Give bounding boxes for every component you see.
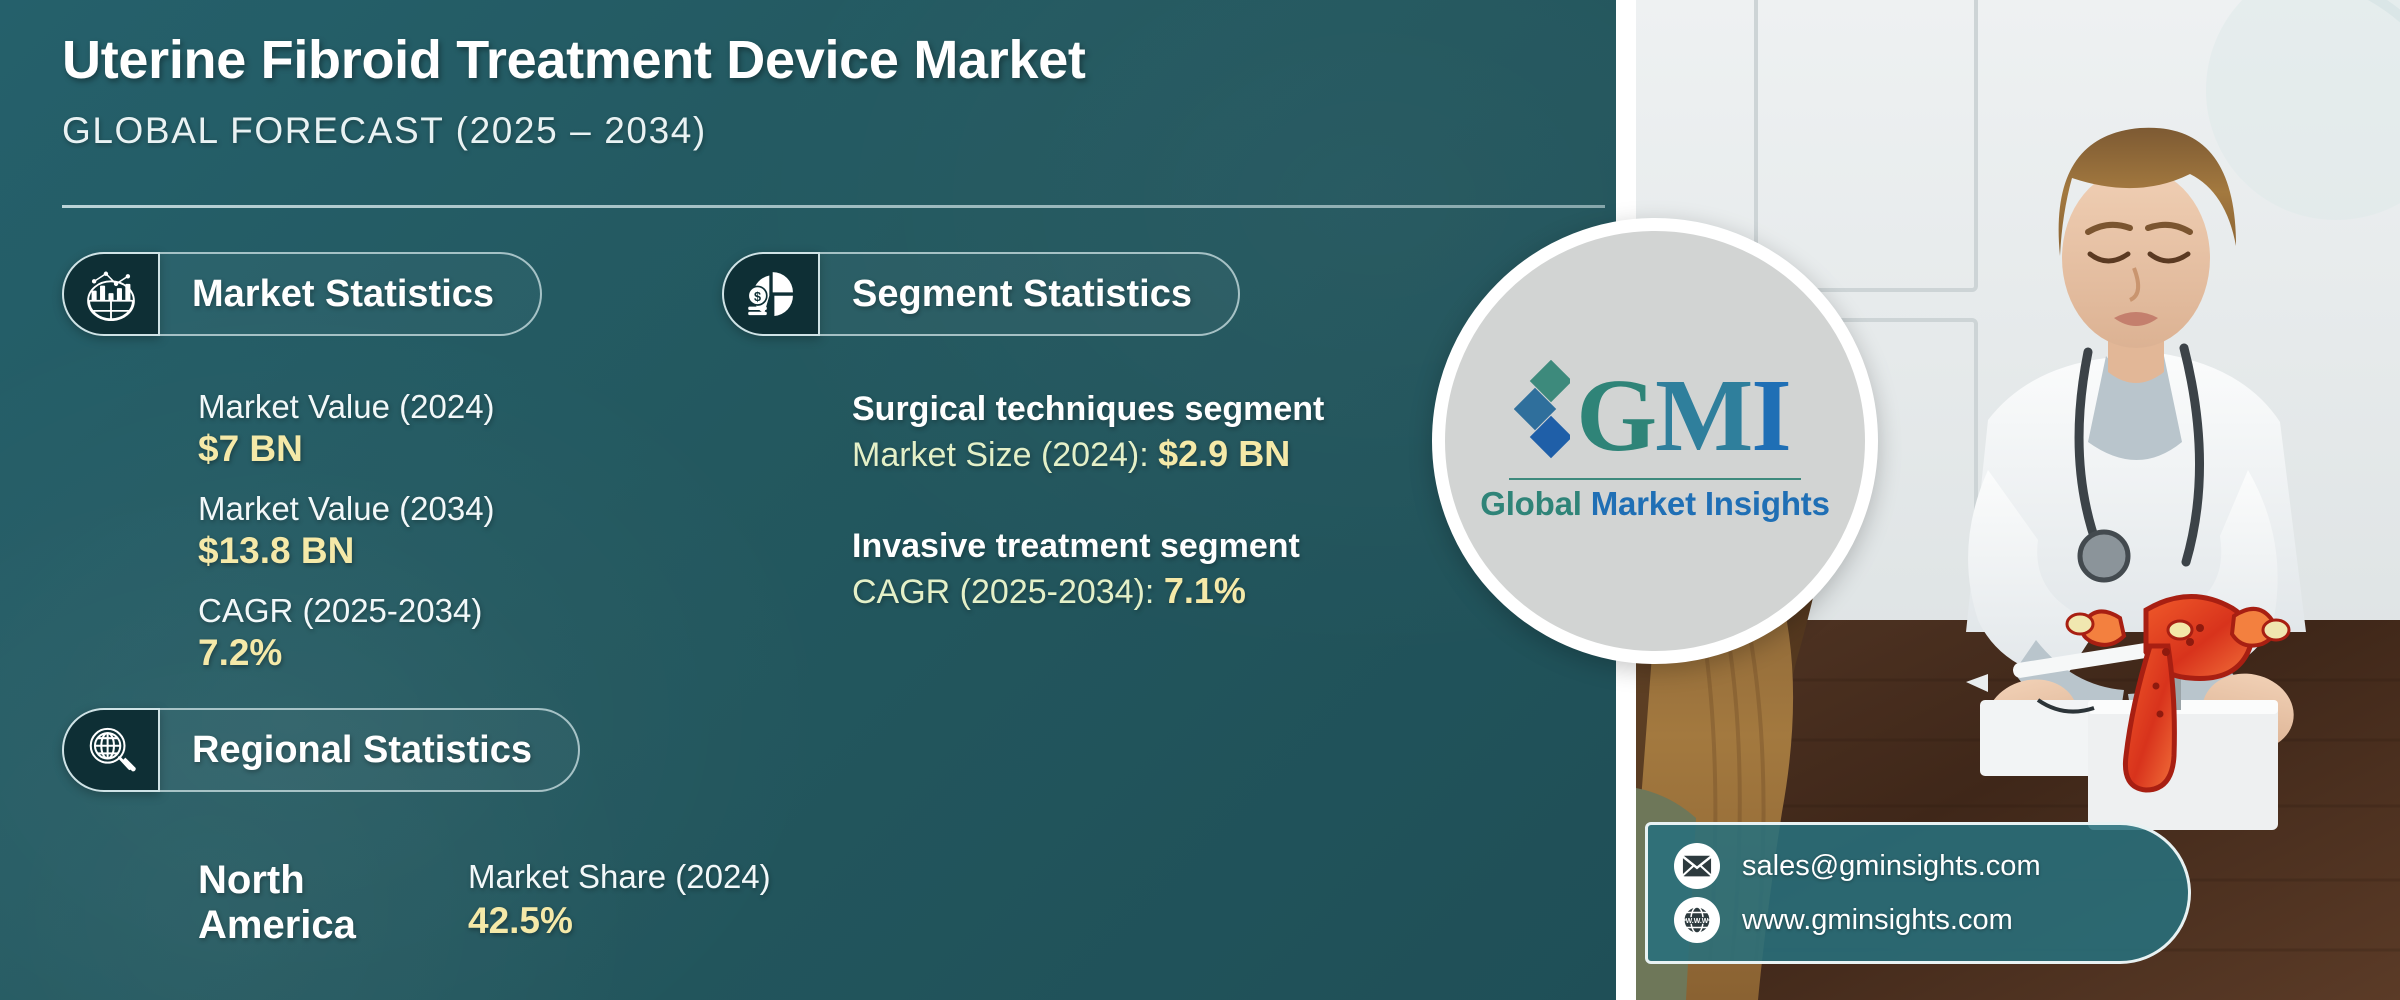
logo-wordmark: GMI [1576, 364, 1790, 468]
segment-metric-value: 7.1% [1164, 570, 1246, 611]
globe-bar-chart-icon [62, 252, 160, 336]
market-statistics-badge[interactable]: Market Statistics [62, 252, 542, 336]
logo-tagline-part1: Global [1480, 485, 1590, 522]
page-title: Uterine Fibroid Treatment Device Market [62, 30, 1562, 90]
left-content-panel: Uterine Fibroid Treatment Device Market … [0, 0, 1616, 1000]
stat-value: 7.2% [198, 632, 495, 674]
segment-heading: Surgical techniques segment [852, 390, 1324, 429]
stat-label: Market Value (2034) [198, 490, 495, 528]
segment-statistics-badge-label: Segment Statistics [818, 252, 1240, 336]
region-name: North America [198, 858, 468, 948]
globe-magnifier-icon [62, 708, 160, 792]
stat-value: $13.8 BN [198, 530, 495, 572]
globe-www-icon: W.W.W [1674, 897, 1720, 943]
logo-rule [1509, 478, 1801, 480]
segment-statistics-badge[interactable]: $ Segment Statistics [722, 252, 1240, 336]
stat-item: CAGR (2025-2034) 7.2% [198, 592, 495, 674]
stat-label: Market Value (2024) [198, 388, 495, 426]
logo-letter-g: G [1576, 358, 1655, 473]
page-subtitle: GLOBAL FORECAST (2025 – 2034) [62, 110, 1562, 152]
region-metric: Market Share (2024) 42.5% [468, 858, 771, 942]
svg-text:$: $ [754, 290, 761, 304]
region-metric-value: 42.5% [468, 900, 771, 942]
segment-metric: CAGR (2025-2034): 7.1% [852, 570, 1324, 612]
region-metric-label: Market Share (2024) [468, 858, 771, 896]
logo-tagline-part2: Market [1591, 485, 1705, 522]
envelope-icon [1674, 843, 1720, 889]
logo-tagline: Global Market Insights [1480, 485, 1830, 523]
contact-panel: sales@gminsights.com W.W.W www.gminsight… [1645, 822, 2191, 964]
market-statistics-list: Market Value (2024) $7 BN Market Value (… [198, 388, 495, 694]
contact-email: sales@gminsights.com [1742, 850, 2041, 883]
infographic-root: Uterine Fibroid Treatment Device Market … [0, 0, 2400, 1000]
segment-group: Surgical techniques segment Market Size … [852, 390, 1324, 475]
market-statistics-badge-label: Market Statistics [158, 252, 542, 336]
stat-item: Market Value (2034) $13.8 BN [198, 490, 495, 572]
contact-website: www.gminsights.com [1742, 904, 2013, 937]
segment-heading: Invasive treatment segment [852, 527, 1324, 566]
logo-tagline-part3: Insights [1705, 485, 1830, 522]
regional-statistics-row: North America Market Share (2024) 42.5% [198, 858, 771, 948]
stat-item: Market Value (2024) $7 BN [198, 388, 495, 470]
segment-statistics-list: Surgical techniques segment Market Size … [852, 390, 1324, 664]
header: Uterine Fibroid Treatment Device Market … [62, 30, 1562, 152]
pie-chart-dollar-icon: $ [722, 252, 820, 336]
diamond-accent-icon [1514, 360, 1570, 472]
segment-metric-label: Market Size (2024): [852, 436, 1158, 474]
regional-statistics-badge-label: Regional Statistics [158, 708, 580, 792]
logo-mark: GMI [1514, 360, 1790, 472]
logo-letter-m: M [1655, 358, 1751, 473]
stat-value: $7 BN [198, 428, 495, 470]
contact-email-row[interactable]: sales@gminsights.com [1674, 843, 2188, 889]
segment-group: Invasive treatment segment CAGR (2025-20… [852, 527, 1324, 612]
contact-website-row[interactable]: W.W.W www.gminsights.com [1674, 897, 2188, 943]
svg-text:W.W.W: W.W.W [1686, 918, 1709, 925]
segment-metric: Market Size (2024): $2.9 BN [852, 433, 1324, 475]
header-divider [62, 205, 1605, 208]
gmi-logo: GMI Global Market Insights [1432, 218, 1878, 664]
logo-letter-i: I [1751, 358, 1789, 473]
regional-statistics-badge[interactable]: Regional Statistics [62, 708, 580, 792]
segment-metric-label: CAGR (2025-2034): [852, 573, 1164, 611]
stat-label: CAGR (2025-2034) [198, 592, 495, 630]
segment-metric-value: $2.9 BN [1158, 433, 1290, 474]
